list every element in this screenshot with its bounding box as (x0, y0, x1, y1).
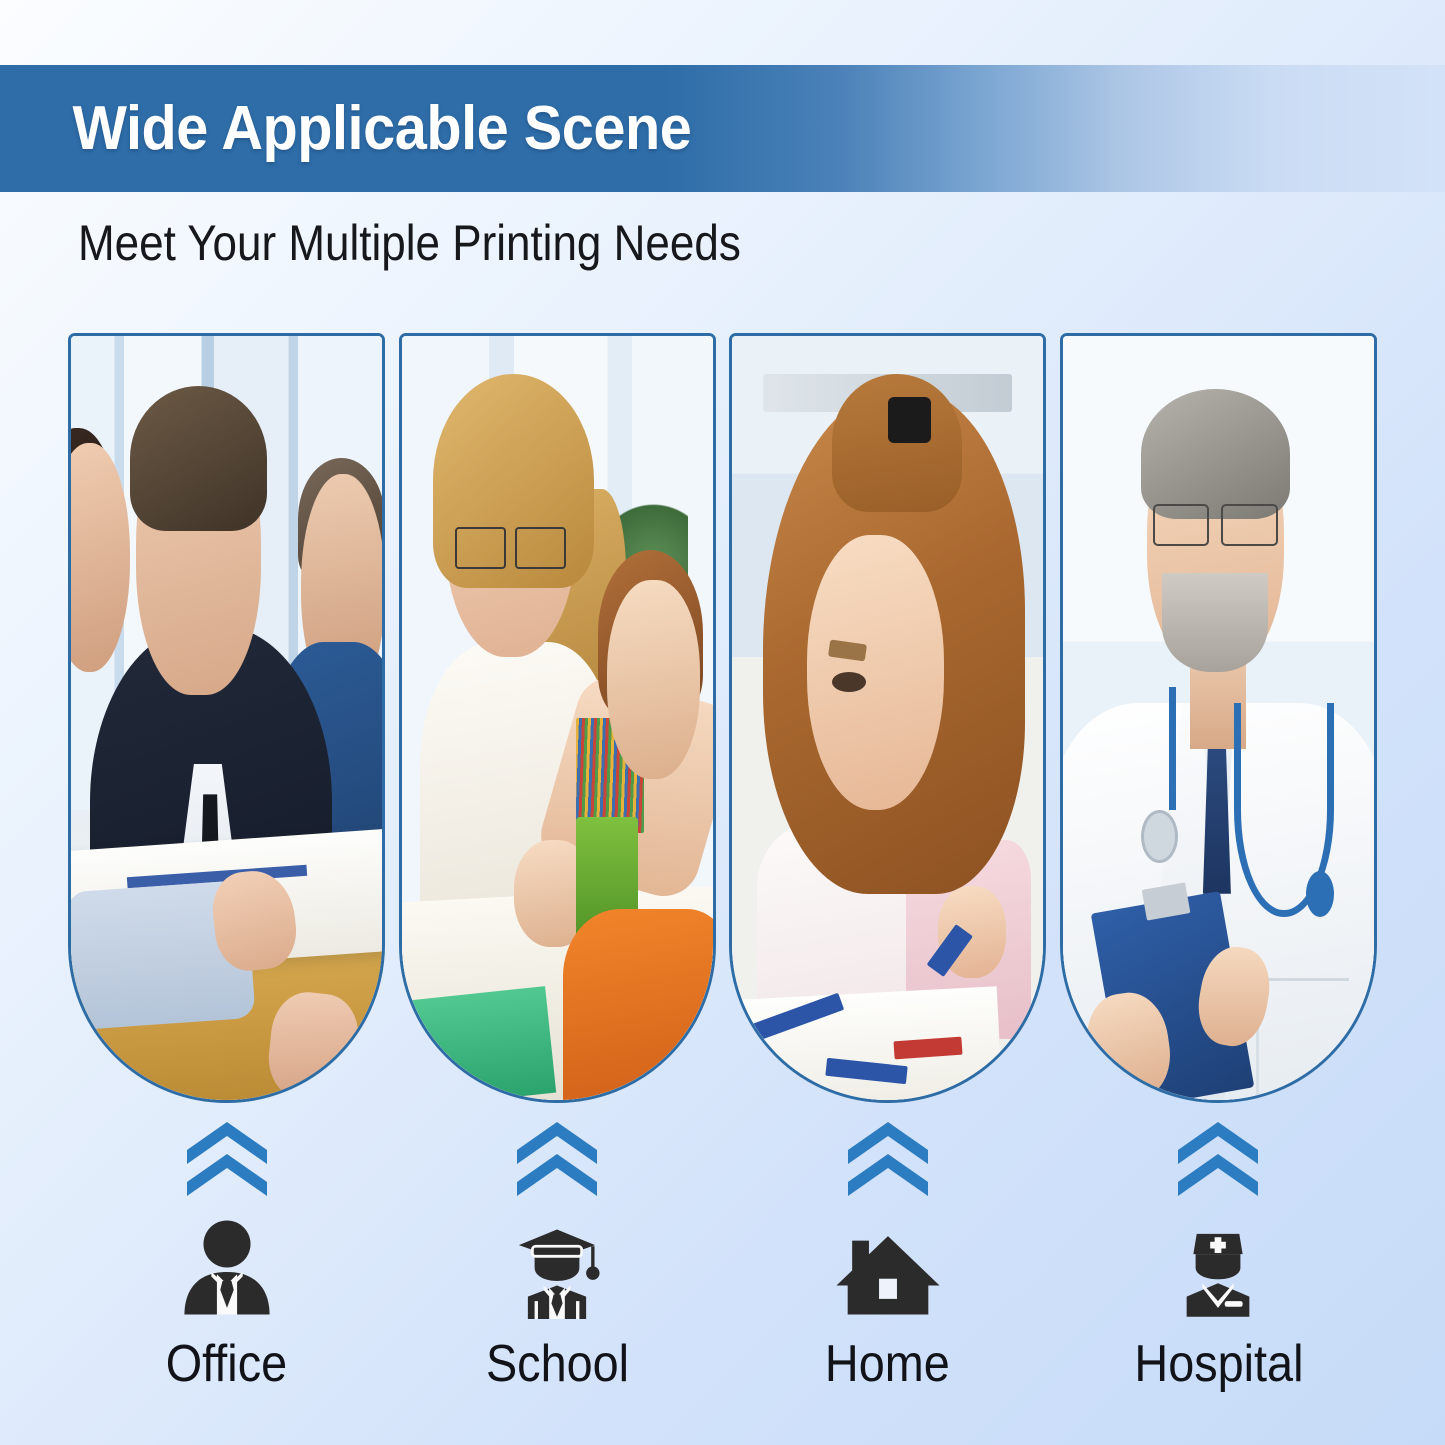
scene-photo-school[interactable] (399, 333, 716, 1103)
page-subtitle: Meet Your Multiple Printing Needs (78, 214, 741, 272)
office-meeting-photo (71, 336, 382, 1100)
scene-photo-home[interactable] (729, 333, 1046, 1103)
scene-item-hospital[interactable]: Hospital (1060, 1120, 1377, 1445)
header-banner: Wide Applicable Scene (0, 65, 1445, 192)
scene-label-office: Office (166, 1334, 287, 1394)
scene-label-home: Home (825, 1334, 950, 1394)
page-title: Wide Applicable Scene (0, 93, 691, 164)
house-icon (832, 1212, 944, 1328)
scene-label-row: Office School (68, 1120, 1377, 1445)
graduate-icon (501, 1212, 613, 1328)
doctor-photo (1063, 336, 1374, 1100)
double-chevron-up-icon (1174, 1120, 1262, 1198)
double-chevron-up-icon (513, 1120, 601, 1198)
scene-label-hospital: Hospital (1134, 1334, 1303, 1394)
scene-item-home[interactable]: Home (729, 1120, 1046, 1445)
scene-label-school: School (486, 1334, 629, 1394)
girl-drawing-photo (732, 336, 1043, 1100)
double-chevron-up-icon (844, 1120, 932, 1198)
classroom-photo (402, 336, 713, 1100)
double-chevron-up-icon (183, 1120, 271, 1198)
scene-photo-office[interactable] (68, 333, 385, 1103)
nurse-icon (1162, 1212, 1274, 1328)
businessperson-icon (171, 1212, 283, 1328)
scene-photo-row (68, 333, 1377, 1103)
scene-item-office[interactable]: Office (68, 1120, 385, 1445)
scene-photo-hospital[interactable] (1060, 333, 1377, 1103)
scene-item-school[interactable]: School (399, 1120, 716, 1445)
